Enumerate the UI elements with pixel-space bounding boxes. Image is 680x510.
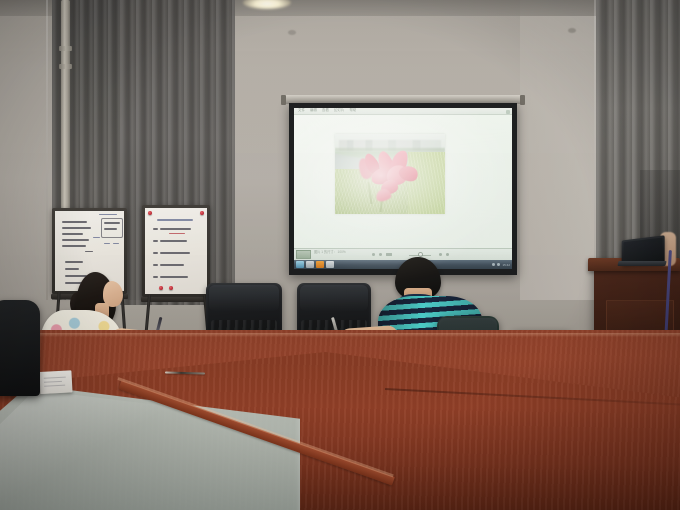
chair-foreground-left[interactable]	[0, 300, 40, 396]
handwriting-stroke	[62, 233, 83, 235]
wall-pipe	[61, 0, 70, 215]
handwriting-stroke	[62, 245, 86, 247]
wall-seam	[46, 0, 48, 300]
menu-item-view[interactable]: 查看	[322, 109, 329, 112]
whiteboard-marker-tray	[141, 297, 211, 302]
whiteboard-right	[142, 205, 210, 297]
screen-roller-cap	[520, 95, 525, 105]
chair-headrest	[300, 285, 368, 311]
menu-item-edit[interactable]: 编辑	[310, 109, 317, 112]
notebook-line	[44, 385, 65, 387]
list-number-stroke	[153, 276, 158, 278]
heading-stroke	[157, 219, 193, 221]
handwriting-stroke	[62, 221, 87, 223]
smoke-detector-icon	[288, 30, 296, 35]
close-icon[interactable]	[506, 110, 510, 114]
pipe-joint	[59, 46, 72, 51]
list-number-stroke	[153, 252, 158, 254]
magnet-icon[interactable]	[169, 286, 173, 290]
handwriting-stroke	[65, 261, 83, 263]
previous-icon[interactable]	[439, 253, 442, 256]
taskbar-clock: 15:42	[502, 263, 510, 267]
menu-item-slide[interactable]: 幻灯片	[334, 109, 344, 112]
list-number-stroke	[153, 240, 158, 242]
taskbar-item-browser[interactable]	[306, 261, 314, 268]
photo-grass-right	[408, 152, 445, 214]
handwriting-stroke	[160, 252, 190, 254]
status-text: 图片 1 的尺寸： 100%	[314, 251, 346, 255]
smoke-detector-icon	[568, 28, 576, 33]
projection-screen-frame: 文件 编辑 查看 幻灯片 帮助	[289, 103, 517, 275]
taskbar-item-viewer[interactable]	[316, 261, 324, 268]
handwriting-stroke	[104, 243, 110, 244]
projection-screen-assembly: 文件 编辑 查看 幻灯片 帮助	[283, 95, 523, 279]
start-button[interactable]	[296, 261, 304, 268]
fit-icon[interactable]	[386, 253, 392, 256]
whiteboard-surface	[145, 208, 207, 294]
heading-stroke	[99, 214, 117, 215]
screen-roller-cap	[281, 95, 286, 105]
tray-network-icon[interactable]	[492, 263, 495, 266]
magnet-icon[interactable]	[159, 286, 163, 290]
system-tray[interactable]: 15:42	[492, 263, 510, 267]
meeting-room-photo: 文件 编辑 查看 幻灯片 帮助	[0, 0, 680, 510]
handwriting-stroke	[62, 227, 91, 229]
handwriting-stroke	[104, 222, 120, 224]
menu-item-file[interactable]: 文件	[298, 109, 305, 112]
toolbar-icons[interactable]	[372, 253, 392, 256]
next-icon[interactable]	[446, 253, 449, 256]
projected-app-menubar[interactable]: 文件 编辑 查看 幻灯片 帮助	[294, 108, 512, 115]
magnet-icon[interactable]	[200, 211, 204, 215]
handwriting-stroke	[160, 228, 191, 230]
magnet-icon[interactable]	[148, 211, 152, 215]
taskbar-item-explorer[interactable]	[326, 261, 334, 268]
menu-item-help[interactable]: 帮助	[349, 109, 356, 112]
handwriting-stroke	[160, 276, 188, 278]
wall-bright-panel	[520, 0, 600, 300]
nav-icons[interactable]	[439, 253, 449, 256]
handwriting-stroke	[85, 251, 93, 252]
notebook-line	[44, 377, 66, 379]
chair-headrest	[209, 285, 279, 311]
handwriting-stroke	[160, 264, 184, 266]
projected-image: 文件 编辑 查看 幻灯片 帮助	[294, 108, 512, 269]
handwriting-stroke	[160, 240, 187, 242]
laptop-display	[623, 238, 662, 264]
arrow-stroke	[93, 237, 100, 238]
notebook-line	[44, 381, 62, 383]
projected-app-statusbar: 图片 1 的尺寸： 100%	[294, 248, 512, 260]
handwriting-stroke	[104, 228, 117, 230]
tray-volume-icon[interactable]	[497, 263, 500, 266]
pipe-joint	[59, 64, 72, 69]
list-number-stroke	[153, 228, 158, 230]
table-edge-highlight	[0, 333, 680, 337]
rotate-right-icon[interactable]	[379, 253, 382, 256]
laptop-keyboard	[617, 261, 666, 266]
slide-thumbnail[interactable]	[296, 250, 311, 259]
projected-photo-lily	[335, 134, 445, 214]
handwriting-stroke	[62, 239, 89, 241]
handwriting-stroke-red	[169, 233, 185, 234]
list-number-stroke	[153, 264, 158, 266]
handwriting-stroke	[65, 268, 79, 270]
handwriting-stroke	[113, 243, 119, 244]
rotate-left-icon[interactable]	[372, 253, 375, 256]
